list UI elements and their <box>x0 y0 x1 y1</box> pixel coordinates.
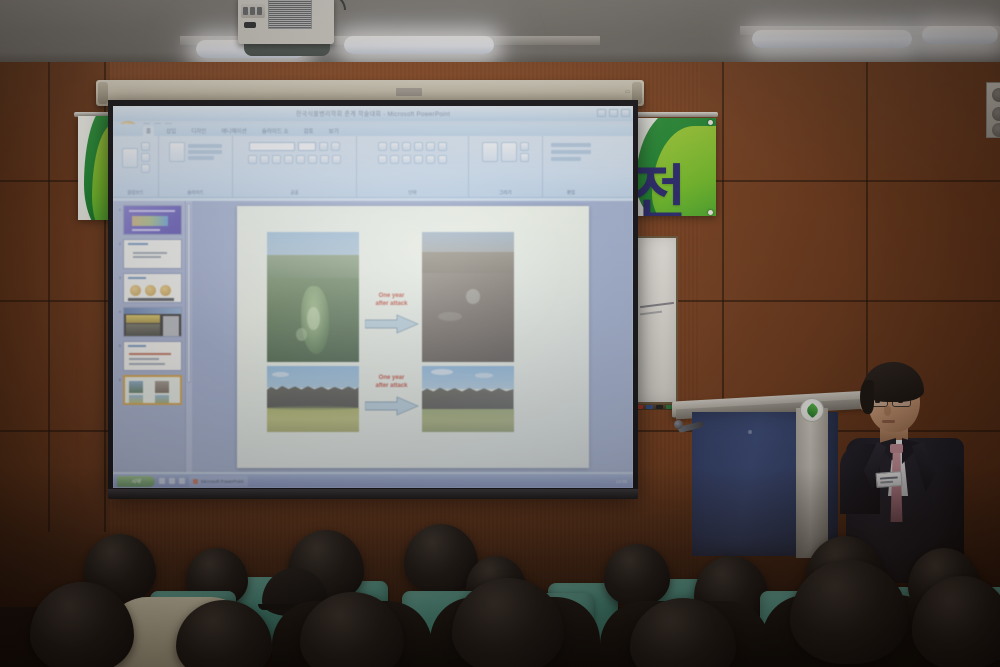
new-slide-button[interactable] <box>169 142 185 162</box>
window-controls[interactable] <box>597 109 630 117</box>
slide-thumbnail-1-number: 1 <box>116 205 121 212</box>
lectern-emblem <box>800 398 824 422</box>
whiteboard-writing-2 <box>640 311 662 316</box>
projection-screen-surface: 한국식물병리학회 춘계 학술대회 - Microsoft PowerPoint <box>113 106 633 488</box>
reset-button[interactable] <box>188 150 222 154</box>
decrease-font-icon[interactable] <box>331 142 340 151</box>
housing-cap-left <box>98 82 108 104</box>
text-direction-icon[interactable] <box>438 142 447 151</box>
slide-thumbnail-2[interactable]: 2 <box>116 239 182 269</box>
marker-blue <box>646 405 653 409</box>
justify-icon[interactable] <box>414 155 423 164</box>
section-button[interactable] <box>188 156 214 160</box>
slide-thumbnail-4-number: 4 <box>116 307 121 314</box>
slide-editing-stage: One year after attack One year after att… <box>192 201 633 472</box>
ribbon-group-clipboard[interactable]: 클립보드 <box>113 136 159 197</box>
strikethrough-icon[interactable] <box>296 155 305 164</box>
photo-before-top-left <box>267 232 359 362</box>
slide-thumbnail-1-preview <box>123 205 182 235</box>
presenter-hair-sideburn <box>860 380 874 414</box>
photo-after-bottom-right <box>422 366 514 432</box>
align-left-icon[interactable] <box>378 155 387 164</box>
caption-top-line1: One year <box>363 292 421 300</box>
columns-icon[interactable] <box>426 155 435 164</box>
slide-thumbnail-5-number: 5 <box>116 341 121 348</box>
shapes-gallery-button[interactable] <box>482 142 498 162</box>
bullets-icon[interactable] <box>378 142 387 151</box>
powerpoint-window-title: 한국식물병리학회 춘계 학술대회 - Microsoft PowerPoint <box>296 109 450 118</box>
tab-animations[interactable]: 애니메이션 <box>218 126 249 136</box>
scrollbar-thumb[interactable] <box>187 203 191 383</box>
font-color-icon[interactable] <box>332 155 341 164</box>
shape-fill-icon[interactable] <box>520 142 529 151</box>
wall-whiteboard <box>634 236 678 404</box>
caption-bottom-line1: One year <box>363 374 421 382</box>
projection-screen: 한국식물병리학회 춘계 학술대회 - Microsoft PowerPoint <box>108 100 638 496</box>
convert-smartart-icon[interactable] <box>438 155 447 164</box>
paste-button[interactable] <box>122 148 138 168</box>
photo-before-bottom-left <box>267 366 359 432</box>
close-icon[interactable] <box>621 109 630 117</box>
lectern-microphone-head <box>674 420 683 429</box>
arrow-bottom-icon <box>365 396 419 416</box>
lecture-hall-scene: 전 ▭ 한국식물병리학회 춘계 학술대회 - Microsoft PowerPo… <box>0 0 1000 667</box>
decrease-indent-icon[interactable] <box>402 142 411 151</box>
slide-thumbnail-2-number: 2 <box>116 239 121 246</box>
ribbon-group-font-label: 글꼴 <box>233 190 356 196</box>
select-button[interactable] <box>551 157 581 161</box>
tab-view[interactable]: 보기 <box>326 126 342 136</box>
presenter-necktie-knot <box>890 444 903 453</box>
right-banner-glyph: 전 <box>631 145 684 216</box>
tab-design[interactable]: 디자인 <box>188 126 209 136</box>
restore-icon[interactable] <box>609 109 618 117</box>
quick-styles-button[interactable] <box>501 142 517 162</box>
ribbon-group-slides-label: 슬라이드 <box>159 190 232 196</box>
caption-top: One year after attack <box>363 292 421 308</box>
increase-font-icon[interactable] <box>319 142 328 151</box>
ribbon-group-clipboard-label: 클립보드 <box>113 190 158 196</box>
powerpoint-workspace: 1 2 <box>113 201 633 472</box>
current-slide[interactable]: One year after attack One year after att… <box>237 206 589 468</box>
ribbon-group-font[interactable]: 글꼴 <box>233 136 357 197</box>
ribbon-group-paragraph[interactable]: 단락 <box>357 136 469 197</box>
ribbon-group-slides[interactable]: 슬라이드 <box>159 136 233 197</box>
italic-icon[interactable] <box>260 155 269 164</box>
slide-thumbnail-6[interactable]: 6 <box>116 375 182 405</box>
layout-button[interactable] <box>188 144 222 148</box>
ribbon[interactable]: 클립보드 슬라이드 <box>113 136 633 198</box>
font-size-box[interactable] <box>298 142 316 151</box>
tab-home[interactable]: 홈 <box>143 126 154 136</box>
slide-thumbnail-pane[interactable]: 1 2 <box>113 201 185 472</box>
arrow-top-icon <box>365 314 419 334</box>
slide-thumbnail-6-number: 6 <box>116 375 121 382</box>
replace-button[interactable] <box>551 150 591 154</box>
align-right-icon[interactable] <box>402 155 411 164</box>
presenter-mouth <box>882 420 895 423</box>
ribbon-group-drawing-label: 그리기 <box>469 190 542 196</box>
copy-icon[interactable] <box>141 153 150 162</box>
tab-review[interactable]: 검토 <box>301 126 317 136</box>
lectern-fitting <box>748 430 752 434</box>
underline-icon[interactable] <box>272 155 281 164</box>
line-spacing-icon[interactable] <box>426 142 435 151</box>
slide-thumbnail-4-preview <box>123 307 182 337</box>
green-leaf-icon <box>804 402 820 418</box>
ribbon-tab-bar[interactable]: 홈 삽입 디자인 애니메이션 슬라이드 쇼 검토 보기 <box>113 124 633 136</box>
slide-thumbnail-3[interactable]: 3 <box>116 273 182 303</box>
housing-label: ▭ <box>625 89 630 95</box>
increase-indent-icon[interactable] <box>414 142 423 151</box>
caption-bottom: One year after attack <box>363 374 421 390</box>
numbering-icon[interactable] <box>390 142 399 151</box>
format-painter-icon[interactable] <box>141 164 150 173</box>
tab-insert[interactable]: 삽입 <box>163 126 179 136</box>
slide-thumbnail-6-preview <box>123 375 182 405</box>
caption-top-line2: after attack <box>363 300 421 308</box>
ribbon-group-editing-label: 편집 <box>543 190 599 196</box>
right-banner-clip-top <box>708 120 713 125</box>
housing-brand-logo <box>396 88 422 96</box>
slide-thumbnail-3-number: 3 <box>116 273 121 280</box>
align-center-icon[interactable] <box>390 155 399 164</box>
slide-thumbnail-4[interactable]: 4 <box>116 307 182 337</box>
slide-thumbnail-1[interactable]: 1 <box>116 205 182 235</box>
caption-bottom-line2: after attack <box>363 382 421 390</box>
presenter-nose <box>884 406 891 416</box>
tab-slideshow[interactable]: 슬라이드 쇼 <box>259 126 292 136</box>
whiteboard-writing-1 <box>640 302 674 308</box>
photo-after-top-right <box>422 232 514 362</box>
minimize-icon[interactable] <box>597 109 606 117</box>
right-banner-clip-bottom <box>708 210 713 215</box>
shape-outline-icon[interactable] <box>520 153 529 162</box>
font-name-box[interactable] <box>249 142 295 151</box>
change-case-icon[interactable] <box>320 155 329 164</box>
powerpoint-window: 한국식물병리학회 춘계 학술대회 - Microsoft PowerPoint <box>113 106 633 488</box>
marker-black <box>656 405 663 409</box>
slide-thumbnail-3-preview <box>123 273 182 303</box>
shadow-icon[interactable] <box>284 155 293 164</box>
slide-thumbnail-5[interactable]: 5 <box>116 341 182 371</box>
character-spacing-icon[interactable] <box>308 155 317 164</box>
audience-head-r3-6 <box>604 544 670 606</box>
powerpoint-title-bar: 한국식물병리학회 춘계 학술대회 - Microsoft PowerPoint <box>113 106 633 121</box>
ribbon-group-editing[interactable]: 편집 <box>543 136 599 197</box>
thumbnail-pane-scrollbar[interactable] <box>185 201 192 472</box>
bold-icon[interactable] <box>248 155 257 164</box>
slide-thumbnail-2-preview <box>123 239 182 269</box>
ribbon-group-paragraph-label: 단락 <box>357 190 468 196</box>
slide-thumbnail-5-preview <box>123 341 182 371</box>
find-button[interactable] <box>551 143 591 147</box>
ribbon-group-drawing[interactable]: 그리기 <box>469 136 543 197</box>
cut-icon[interactable] <box>141 142 150 151</box>
